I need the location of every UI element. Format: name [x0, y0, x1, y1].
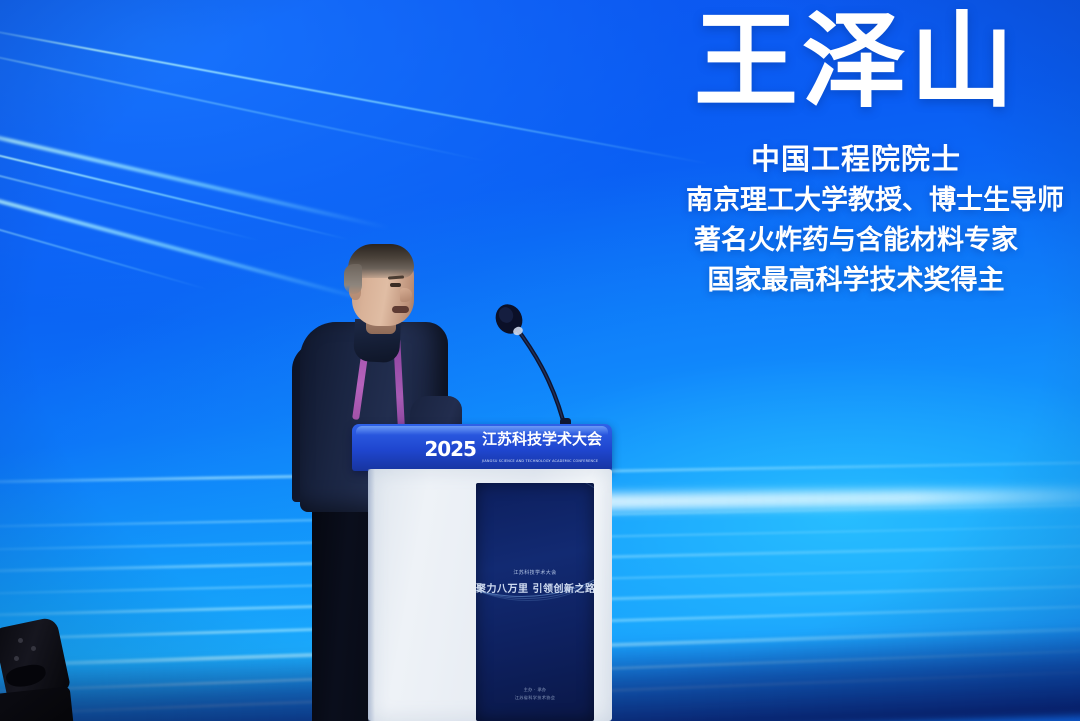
- podium-body-panel: 江苏科技学术大会 聚力八万里 引领创新之路 主办 · 承办 江苏省科学技术协会: [368, 469, 612, 721]
- speaker-hair-sideburn: [344, 264, 362, 294]
- conference-stage-photo: 王泽山 中国工程院院士 南京理工大学教授、博士生导师 著名火炸药与含能材料专家 …: [0, 0, 1080, 721]
- speaker-credential-line: 著名火炸药与含能材料专家: [686, 221, 1026, 261]
- microphone: [470, 300, 620, 440]
- logo-text-group: 江苏科技学术大会 JIANGSU SCIENCE AND TECHNOLOGY …: [482, 431, 602, 467]
- speaker-eye: [390, 283, 401, 287]
- speaker-title-block: 王泽山 中国工程院院士 南京理工大学教授、博士生导师 著名火炸药与含能材料专家 …: [686, 8, 1026, 301]
- speaker-credential-line: 国家最高科学技术奖得主: [686, 261, 1026, 301]
- poster-heading: 江苏科技学术大会: [476, 569, 594, 576]
- stage-light-bolt: [18, 638, 23, 643]
- speaker-credential-line: 中国工程院院士: [686, 138, 1026, 181]
- logo-year-text: 2025: [424, 439, 476, 459]
- stage-light-fixture: [0, 612, 82, 721]
- conference-logo: 2025 江苏科技学术大会 JIANGSU SCIENCE AND TECHNO…: [424, 431, 602, 467]
- logo-title-en: JIANGSU SCIENCE AND TECHNOLOGY ACADEMIC …: [482, 459, 598, 463]
- podium-body-edge: [368, 469, 375, 721]
- speaker-mouth: [392, 306, 409, 313]
- stage-light-bolt: [14, 656, 19, 661]
- poster-footer-sub: 江苏省科学技术协会: [476, 695, 594, 701]
- speaker-credential-line: 南京理工大学教授、博士生导师: [686, 181, 1026, 221]
- poster-footer: 主办 · 承办: [476, 687, 594, 693]
- poster-main-text: 聚力八万里 引领创新之路: [476, 580, 594, 595]
- stage-light-bolt: [31, 646, 36, 651]
- gooseneck-microphone-icon: [470, 300, 620, 440]
- speaker-name: 王泽山: [686, 8, 1026, 114]
- podium-poster: 江苏科技学术大会 聚力八万里 引领创新之路 主办 · 承办 江苏省科学技术协会: [476, 483, 594, 721]
- logo-title-cn: 江苏科技学术大会: [482, 430, 602, 448]
- speaker-credentials: 中国工程院院士 南京理工大学教授、博士生导师 著名火炸药与含能材料专家 国家最高…: [686, 138, 1026, 301]
- podium-top-panel: 2025 江苏科技学术大会 JIANGSU SCIENCE AND TECHNO…: [352, 424, 612, 471]
- stage-light-base: [0, 686, 74, 721]
- podium: 2025 江苏科技学术大会 JIANGSU SCIENCE AND TECHNO…: [352, 424, 612, 721]
